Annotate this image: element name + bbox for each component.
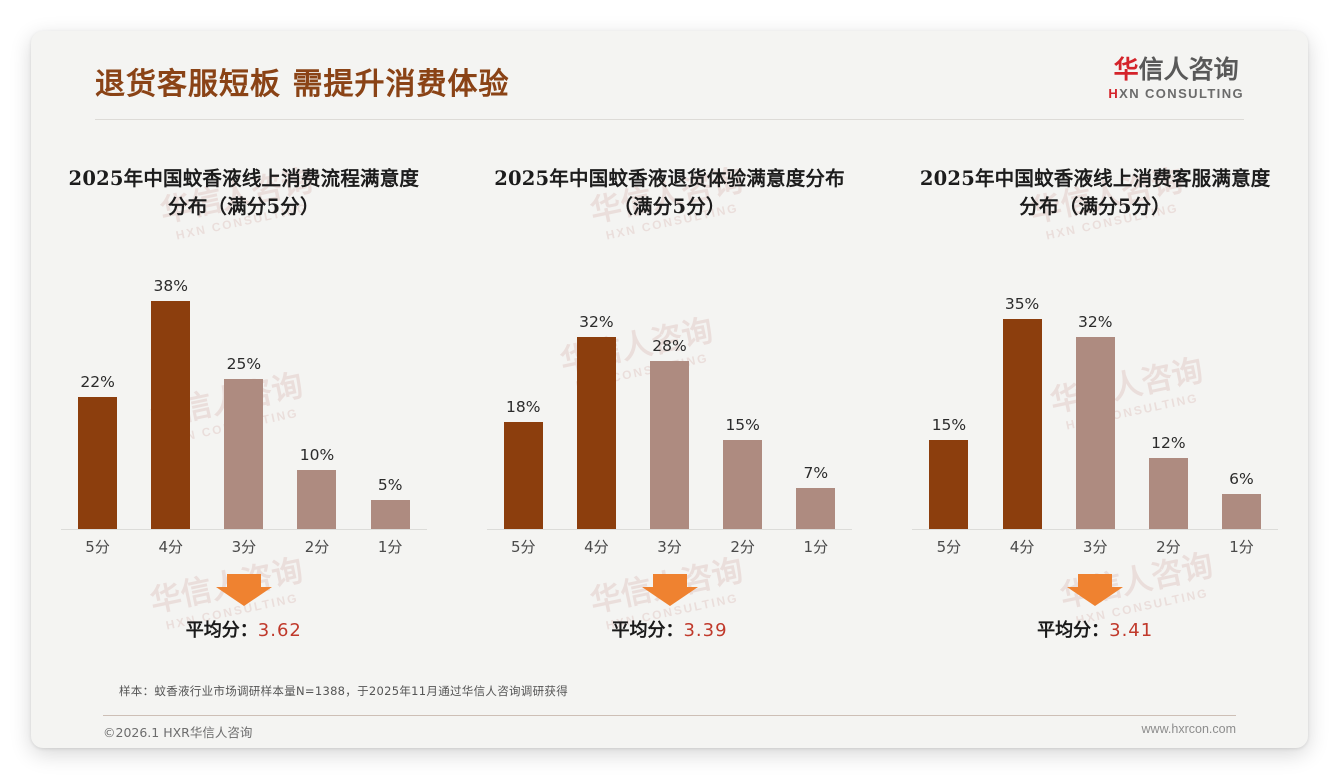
- bar-group: 15%35%32%12%6%: [912, 264, 1278, 530]
- bar-value-label: 32%: [579, 313, 613, 331]
- bar: [78, 397, 117, 530]
- bar-value-label: 18%: [506, 398, 540, 416]
- logo-chinese-text: 华信人咨询: [1108, 57, 1244, 82]
- bar-value-label: 22%: [80, 373, 114, 391]
- bar-slot: 25%: [207, 264, 280, 530]
- bar: [1076, 337, 1115, 530]
- footer-divider: [103, 715, 1236, 716]
- bar-value-label: 15%: [725, 416, 759, 434]
- bar-slot: 6%: [1205, 264, 1278, 530]
- x-axis-tick-label: 3分: [207, 536, 280, 564]
- bar-slot: 38%: [134, 264, 207, 530]
- company-logo: 华信人咨询 HXN CONSULTING: [1108, 57, 1244, 100]
- website-text: www.hxrcon.com: [1142, 722, 1236, 736]
- header-divider: [95, 119, 1244, 120]
- bar-slot: 28%: [633, 264, 706, 530]
- x-axis-tick-label: 1分: [779, 536, 852, 564]
- bar: [577, 337, 616, 530]
- bar-slot: 32%: [1059, 264, 1132, 530]
- bar-value-label: 28%: [652, 337, 686, 355]
- bar-chart: 18%32%28%15%7% 5分4分3分2分1分: [487, 238, 853, 568]
- bar-value-label: 6%: [1229, 470, 1254, 488]
- average-score-text: 平均分：3.39: [611, 616, 727, 642]
- bar: [297, 470, 336, 530]
- chart-title: 2025年中国蚊香液退货体验满意度分布（满分5分）: [487, 165, 853, 220]
- bar-slot: 7%: [779, 264, 852, 530]
- sample-footnote: 样本：蚊香液行业市场调研样本量N=1388，于2025年11月通过华信人咨询调研…: [119, 683, 568, 699]
- down-arrow-icon: [216, 574, 272, 606]
- x-axis-labels: 5分4分3分2分1分: [61, 536, 427, 564]
- bar-slot: 32%: [560, 264, 633, 530]
- copyright-text: ©2026.1 HXR华信人咨询: [103, 722, 252, 741]
- logo-english-accent: H: [1108, 86, 1119, 101]
- average-score-text: 平均分：3.41: [1037, 616, 1153, 642]
- bar-value-label: 38%: [153, 277, 187, 295]
- average-label: 平均分：: [1037, 620, 1109, 641]
- average-value: 3.62: [258, 620, 302, 641]
- bar-slot: 10%: [280, 264, 353, 530]
- x-axis-line: [912, 529, 1278, 530]
- average-score-text: 平均分：3.62: [186, 616, 302, 642]
- x-axis-tick-label: 4分: [985, 536, 1058, 564]
- bar-slot: 22%: [61, 264, 134, 530]
- average-label: 平均分：: [186, 620, 258, 641]
- bar: [1222, 494, 1261, 530]
- bar-value-label: 35%: [1005, 295, 1039, 313]
- bar: [224, 379, 263, 530]
- bar-group: 18%32%28%15%7%: [487, 264, 853, 530]
- x-axis-tick-label: 1分: [1205, 536, 1278, 564]
- average-block: 平均分：3.41: [890, 574, 1300, 658]
- bar-value-label: 5%: [378, 476, 403, 494]
- chart-panel-process-satisfaction: 2025年中国蚊香液线上消费流程满意度分布（满分5分） 22%38%25%10%…: [31, 135, 457, 658]
- bar-group: 22%38%25%10%5%: [61, 264, 427, 530]
- bar: [1149, 458, 1188, 531]
- x-axis-tick-label: 5分: [912, 536, 985, 564]
- bar-value-label: 25%: [227, 355, 261, 373]
- average-value: 3.39: [683, 620, 727, 641]
- down-arrow-icon: [1067, 574, 1123, 606]
- bar: [371, 500, 410, 530]
- bar-slot: 18%: [487, 264, 560, 530]
- x-axis-tick-label: 3分: [1059, 536, 1132, 564]
- bar-slot: 15%: [912, 264, 985, 530]
- x-axis-tick-label: 1分: [354, 536, 427, 564]
- bar: [929, 440, 968, 531]
- average-block: 平均分：3.62: [39, 574, 449, 658]
- logo-chinese-rest: 信人咨询: [1139, 55, 1239, 84]
- bar: [151, 301, 190, 531]
- bar-slot: 5%: [354, 264, 427, 530]
- bar-value-label: 10%: [300, 446, 334, 464]
- x-axis-tick-label: 2分: [1132, 536, 1205, 564]
- logo-english-rest: XN CONSULTING: [1119, 86, 1244, 101]
- average-label: 平均分：: [611, 620, 683, 641]
- x-axis-tick-label: 2分: [280, 536, 353, 564]
- charts-row: 2025年中国蚊香液线上消费流程满意度分布（满分5分） 22%38%25%10%…: [31, 135, 1308, 658]
- x-axis-tick-label: 5分: [61, 536, 134, 564]
- slide: 退货客服短板 需提升消费体验 华信人咨询 HXN CONSULTING 华信人咨…: [31, 31, 1308, 748]
- average-value: 3.41: [1109, 620, 1153, 641]
- bar: [650, 361, 689, 530]
- bar-slot: 15%: [706, 264, 779, 530]
- logo-english-text: HXN CONSULTING: [1108, 87, 1244, 100]
- slide-header: 退货客服短板 需提升消费体验 华信人咨询 HXN CONSULTING: [31, 31, 1308, 127]
- x-axis-tick-label: 3分: [633, 536, 706, 564]
- chart-panel-customer-service: 2025年中国蚊香液线上消费客服满意度分布（满分5分） 15%35%32%12%…: [882, 135, 1308, 658]
- chart-panel-return-experience: 2025年中国蚊香液退货体验满意度分布（满分5分） 18%32%28%15%7%…: [457, 135, 883, 658]
- bar-value-label: 15%: [932, 416, 966, 434]
- x-axis-labels: 5分4分3分2分1分: [487, 536, 853, 564]
- chart-title: 2025年中国蚊香液线上消费客服满意度分布（满分5分）: [912, 165, 1278, 220]
- x-axis-line: [487, 529, 853, 530]
- x-axis-tick-label: 5分: [487, 536, 560, 564]
- x-axis-tick-label: 2分: [706, 536, 779, 564]
- bar-slot: 35%: [985, 264, 1058, 530]
- bar: [723, 440, 762, 531]
- bar-value-label: 32%: [1078, 313, 1112, 331]
- page-title: 退货客服短板 需提升消费体验: [95, 59, 509, 103]
- bar-chart: 15%35%32%12%6% 5分4分3分2分1分: [912, 238, 1278, 568]
- bar: [1003, 319, 1042, 531]
- x-axis-line: [61, 529, 427, 530]
- bar-slot: 12%: [1132, 264, 1205, 530]
- bar-value-label: 12%: [1151, 434, 1185, 452]
- x-axis-tick-label: 4分: [560, 536, 633, 564]
- chart-title: 2025年中国蚊香液线上消费流程满意度分布（满分5分）: [61, 165, 427, 220]
- x-axis-tick-label: 4分: [134, 536, 207, 564]
- bar-chart: 22%38%25%10%5% 5分4分3分2分1分: [61, 238, 427, 568]
- average-block: 平均分：3.39: [465, 574, 875, 658]
- x-axis-labels: 5分4分3分2分1分: [912, 536, 1278, 564]
- bar-value-label: 7%: [804, 464, 829, 482]
- bar: [504, 422, 543, 531]
- bar: [796, 488, 835, 530]
- logo-chinese-accent: 华: [1114, 55, 1139, 84]
- down-arrow-icon: [642, 574, 698, 606]
